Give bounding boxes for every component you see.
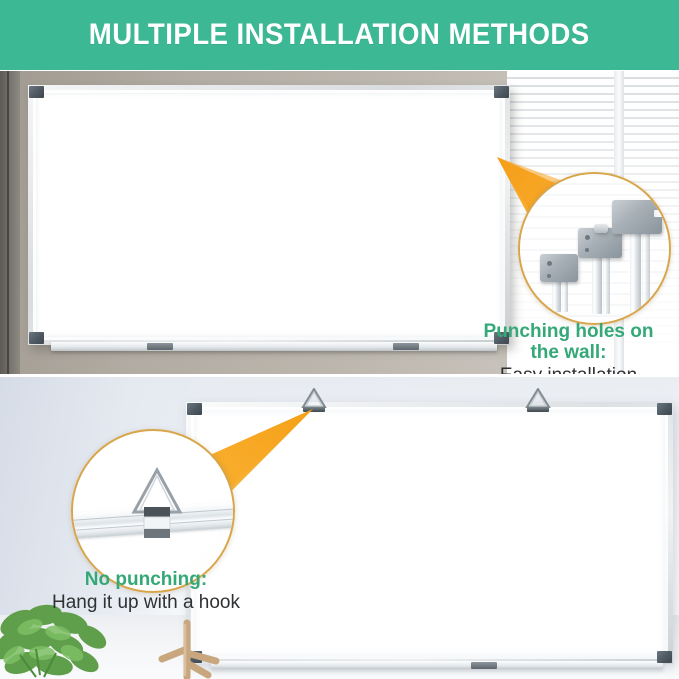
bracket-bolt	[585, 235, 590, 240]
infographic-root: MULTIPLE INSTALLATION METHODS	[0, 0, 679, 679]
whiteboard-surface	[36, 93, 502, 337]
pen-tray	[211, 661, 663, 669]
pen-tray-clip	[471, 662, 497, 669]
corner-cap-top-left	[29, 86, 44, 98]
bracket-arm	[630, 230, 641, 314]
hanger-plate	[527, 407, 549, 412]
bracket-arm	[592, 252, 602, 314]
header-banner: MULTIPLE INSTALLATION METHODS	[0, 0, 679, 70]
bracket-bolt-2	[547, 274, 551, 278]
corner-cap-top-right	[494, 86, 509, 98]
page-title: MULTIPLE INSTALLATION METHODS	[89, 18, 590, 52]
callout-body-line1: Easy installation	[466, 365, 671, 374]
corner-cap-bottom-left	[29, 332, 44, 344]
callout-body: Hang it up with a hook	[10, 592, 282, 614]
hanger-bracket-closeup	[129, 467, 185, 543]
callout-text-no-punching: No punching: Hang it up with a hook	[10, 569, 282, 614]
whiteboard-wall-mounted	[28, 85, 510, 345]
triangle-hanger-right	[525, 388, 551, 409]
bracket-arm-shadow	[642, 228, 650, 314]
callout-heading-line2: the wall:	[466, 342, 671, 363]
callout-heading: No punching:	[10, 569, 282, 591]
bracket-bolt	[547, 261, 552, 266]
bracket-bolt-2	[585, 248, 589, 252]
wall-bracket-large	[606, 196, 671, 314]
corner-cap-bottom-right	[657, 651, 672, 663]
pen-tray-clip-left	[147, 343, 173, 350]
pen-tray-clip-right	[393, 343, 419, 350]
pen-tray	[51, 342, 497, 351]
panel-punching-method: Punching holes on the wall: Easy install…	[0, 71, 679, 374]
wooden-coat-rack	[150, 619, 224, 679]
bracket-head	[612, 200, 662, 234]
callout-text-punching: Punching holes on the wall: Easy install…	[466, 321, 671, 374]
panel-no-punching-method: No punching: Hang it up with a hook	[0, 377, 679, 679]
triangle-hanger-left	[301, 388, 327, 409]
bracket-rail	[654, 210, 671, 217]
door-frame-edge	[0, 71, 20, 374]
corner-cap-top-right	[657, 403, 672, 415]
callout-heading-line1: Punching holes on	[466, 321, 671, 342]
magnifier-wall-fixing-kit	[518, 172, 671, 325]
